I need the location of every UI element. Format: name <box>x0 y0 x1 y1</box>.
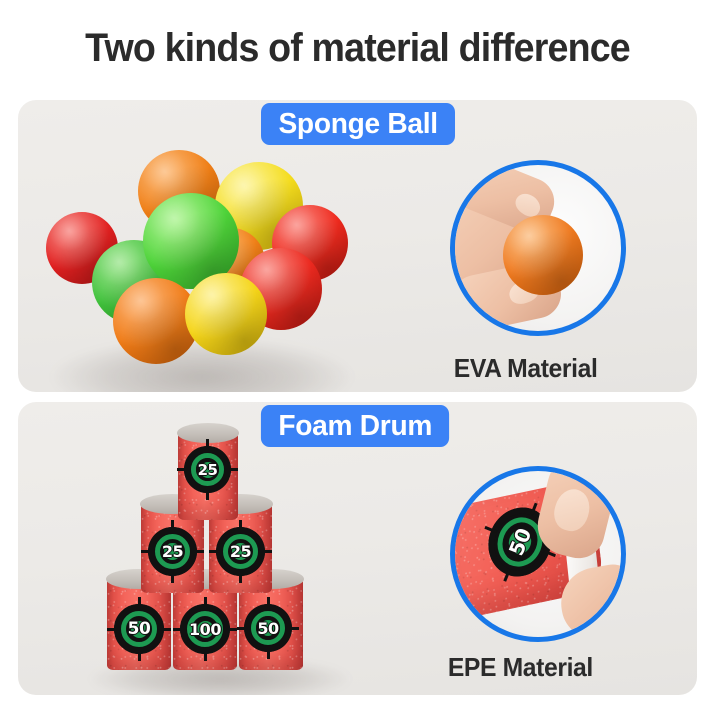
hand-squeezing-drum-photo: 50 <box>455 471 621 637</box>
crosshair-tick <box>206 439 209 451</box>
held-foam-ball <box>503 215 583 295</box>
badge-sponge-ball[interactable]: Sponge Ball <box>261 103 455 145</box>
crosshair-tick <box>206 488 209 500</box>
crosshair-tick <box>287 627 299 630</box>
caption-eva-material: EVA Material <box>454 353 598 384</box>
crosshair-tick <box>173 628 185 631</box>
crosshair-tick <box>267 597 270 609</box>
target-score: 25 <box>198 461 218 479</box>
target-sticker: 25 <box>184 446 231 493</box>
target-sticker: 25 <box>148 527 197 576</box>
crosshair-tick <box>141 550 153 553</box>
target-score: 25 <box>162 542 183 561</box>
crosshair-tick <box>138 597 141 609</box>
inset-epe-material: 50 <box>450 466 626 642</box>
crosshair-tick <box>192 550 204 553</box>
crosshair-tick <box>225 628 237 631</box>
foam-ball <box>185 273 267 355</box>
badge-foam-drum[interactable]: Foam Drum <box>261 405 450 447</box>
crosshair-tick <box>204 597 207 609</box>
crosshair-tick <box>159 628 171 631</box>
crosshair-tick <box>237 627 249 630</box>
crosshair-tick <box>239 571 242 583</box>
target-sticker: 50 <box>244 604 292 652</box>
target-score: 25 <box>230 542 251 561</box>
inset-eva-material <box>450 160 626 336</box>
crosshair-tick <box>267 647 270 659</box>
hand-holding-ball-photo <box>455 165 621 331</box>
target-sticker: 100 <box>180 604 230 654</box>
crosshair-tick <box>138 649 141 661</box>
crosshair-tick <box>226 468 238 471</box>
crosshair-tick <box>107 628 119 631</box>
crosshair-tick <box>209 550 221 553</box>
page-title: Two kinds of material difference <box>21 24 693 72</box>
crosshair-tick <box>171 520 174 532</box>
foam-drum: 25 <box>178 432 238 520</box>
target-sticker: 25 <box>216 527 265 576</box>
target-score: 100 <box>189 620 221 639</box>
crosshair-tick <box>239 520 242 532</box>
crosshair-tick <box>171 571 174 583</box>
crosshair-tick <box>260 550 272 553</box>
caption-epe-material: EPE Material <box>448 652 593 683</box>
crosshair-tick <box>204 649 207 661</box>
target-score: 50 <box>128 619 151 639</box>
target-score: 50 <box>257 619 278 638</box>
crosshair-tick <box>177 468 189 471</box>
target-sticker: 50 <box>114 604 164 654</box>
